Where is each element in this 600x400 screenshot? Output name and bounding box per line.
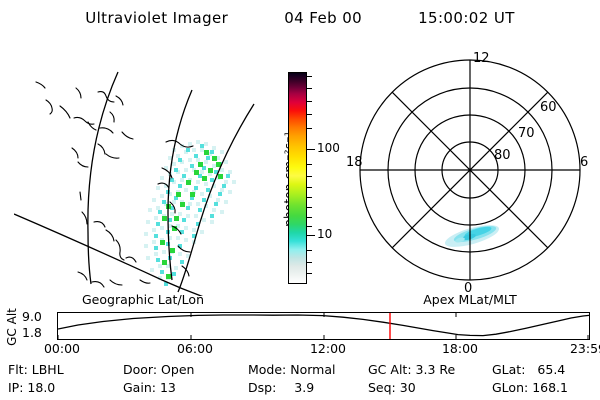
mlat-label-60: 60: [540, 100, 557, 115]
instrument-name: Ultraviolet Imager: [85, 9, 228, 27]
orbit-altitude-plot[interactable]: [57, 312, 590, 340]
status-gc-alt: GC Alt: 3.3 Re: [368, 362, 455, 377]
colorbar-label-10: 10: [317, 227, 332, 241]
page-title: Ultraviolet Imager 04 Feb 00 15:00:02 UT: [0, 6, 600, 30]
mlt-spokes: [360, 60, 580, 280]
mlat-label-70: 70: [518, 126, 535, 141]
status-seq: Seq: 30: [368, 380, 416, 395]
colorbar-tick: [306, 197, 312, 198]
orbit-time-axis: 00:00 06:00 12:00 18:00 23:59: [26, 341, 592, 357]
colorbar-gradient: [288, 72, 307, 284]
status-mode: Mode: Normal: [248, 362, 336, 377]
observation-date: 04 Feb 00: [284, 9, 362, 27]
status-gain: Gain: 13: [123, 380, 176, 395]
polar-dial-panel[interactable]: 12 18 6 0 60 70 80: [342, 44, 598, 296]
status-glat: GLat: 65.4: [492, 362, 565, 377]
colorbar-tick: [306, 128, 312, 129]
colorbar-tick: [306, 250, 312, 251]
status-flt: Flt: LBHL: [8, 362, 64, 377]
status-panel: Flt: LBHL Door: Open Mode: Normal GC Alt…: [0, 360, 600, 400]
colorbar-tick: [306, 226, 312, 227]
colorbar-tick: [306, 176, 312, 177]
status-ip: IP: 18.0: [8, 380, 55, 395]
orbit-time-tick: 18:00: [442, 341, 478, 356]
mlt-label-18: 18: [346, 155, 363, 170]
geographic-panel-caption: Geographic Lat/Lon: [14, 292, 272, 307]
colorbar-tick: [306, 76, 312, 77]
colorbar-tick: [306, 187, 312, 188]
observation-time: 15:00:02 UT: [418, 9, 515, 27]
mlt-label-12: 12: [473, 51, 490, 66]
orbit-time-tick: 06:00: [177, 341, 213, 356]
colorbar: photon cm⁻²s⁻¹ 100 10: [264, 60, 350, 298]
orbit-y-axis-label: GC Alt: [2, 306, 20, 346]
mlat-label-80: 80: [494, 148, 511, 163]
orbit-time-tick: 00:00: [44, 341, 80, 356]
mlt-label-6: 6: [580, 155, 588, 170]
colorbar-tick: [306, 164, 312, 165]
uvi-quicklook-window: Ultraviolet Imager 04 Feb 00 15:00:02 UT: [0, 0, 600, 400]
colorbar-label-100: 100: [317, 141, 340, 155]
geographic-image-panel[interactable]: [14, 44, 272, 296]
status-door: Door: Open: [123, 362, 194, 377]
colorbar-tick-major: [306, 149, 315, 150]
orbit-time-tick: 12:00: [310, 341, 346, 356]
colorbar-tick: [306, 88, 312, 89]
colorbar-tick: [306, 262, 312, 263]
colorbar-tick: [306, 207, 312, 208]
colorbar-tick: [306, 273, 312, 274]
status-glon: GLon: 168.1: [492, 380, 568, 395]
orbit-ytick-high: 9.0: [22, 309, 42, 324]
polar-panel-caption: Apex MLat/MLT: [342, 292, 598, 307]
status-dsp: Dsp: 3.9: [248, 380, 314, 395]
colorbar-tick: [306, 217, 312, 218]
colorbar-tick: [306, 101, 312, 102]
orbit-ytick-low: 1.8: [22, 325, 42, 340]
colorbar-tick-major: [306, 235, 315, 236]
orbit-time-tick: 23:59: [570, 341, 600, 356]
colorbar-tick: [306, 114, 312, 115]
